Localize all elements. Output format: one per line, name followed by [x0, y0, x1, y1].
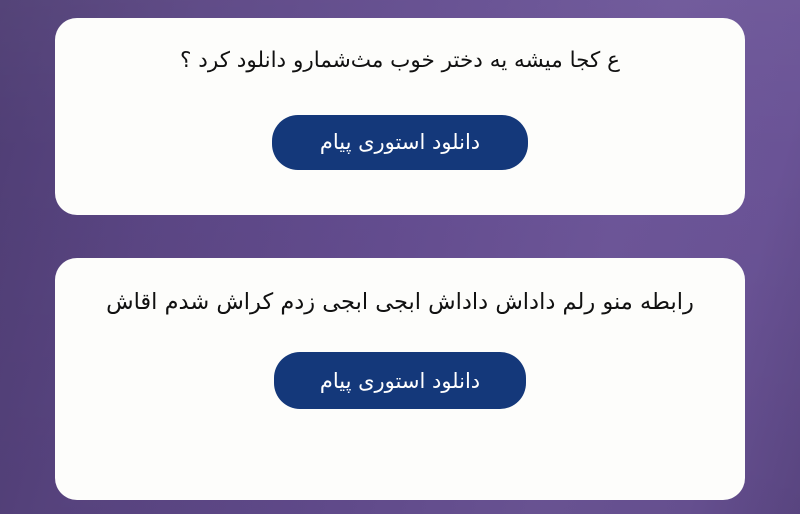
message-text: ع کجا میشه یه دختر خوب مث‌شمارو دانلود ک…	[90, 44, 710, 79]
page-root: ع کجا میشه یه دختر خوب مث‌شمارو دانلود ک…	[0, 0, 800, 514]
message-card: ع کجا میشه یه دختر خوب مث‌شمارو دانلود ک…	[55, 18, 745, 215]
message-card: رابطه منو رلم داداش داداش ابجی ابجی زدم …	[55, 258, 745, 500]
message-text: رابطه منو رلم داداش داداش ابجی ابجی زدم …	[80, 284, 720, 320]
download-story-button[interactable]: دانلود استوری پیام	[274, 352, 526, 409]
download-story-button[interactable]: دانلود استوری پیام	[272, 115, 528, 170]
